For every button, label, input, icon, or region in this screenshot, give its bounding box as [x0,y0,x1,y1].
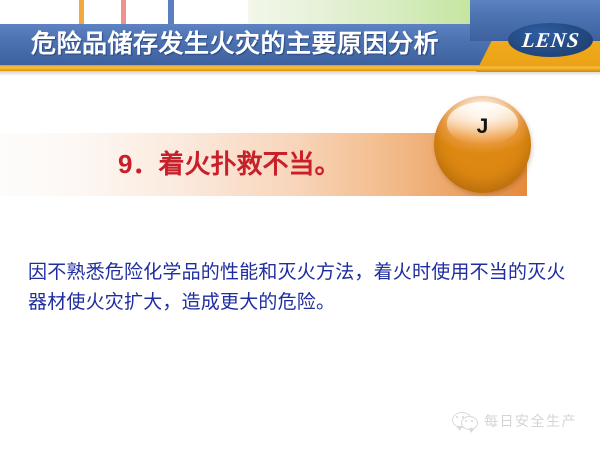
watermark-label: 每日安全生产 [484,411,577,431]
wechat-dot-2 [462,416,464,418]
orange-tick-mark [79,0,84,24]
pink-tick-mark [121,0,126,24]
slide-canvas: 危险品储存发生火灾的主要原因分析 LENS 9．着火扑救不当。 J 因不熟悉危险… [0,0,600,450]
bullet-sphere: J [434,96,531,193]
wechat-dot-4 [471,420,473,422]
wechat-dot-3 [465,420,467,422]
sphere-letter: J [434,96,531,193]
headline-text: 9．着火扑救不当。 [118,133,340,196]
lens-logo-text: LENS [520,28,580,53]
lens-logo: LENS [508,23,593,57]
wechat-icon [452,412,478,431]
wechat-watermark: 每日安全生产 [452,411,577,431]
title-underline-shadow [0,71,600,76]
page-title: 危险品储存发生火灾的主要原因分析 [31,24,439,65]
blue-tick-mark [168,0,174,24]
wechat-dot-1 [456,416,458,418]
body-paragraph: 因不熟悉危险化学品的性能和灭火方法，着火时使用不当的灭火器材使火灾扩大，造成更大… [28,258,573,318]
